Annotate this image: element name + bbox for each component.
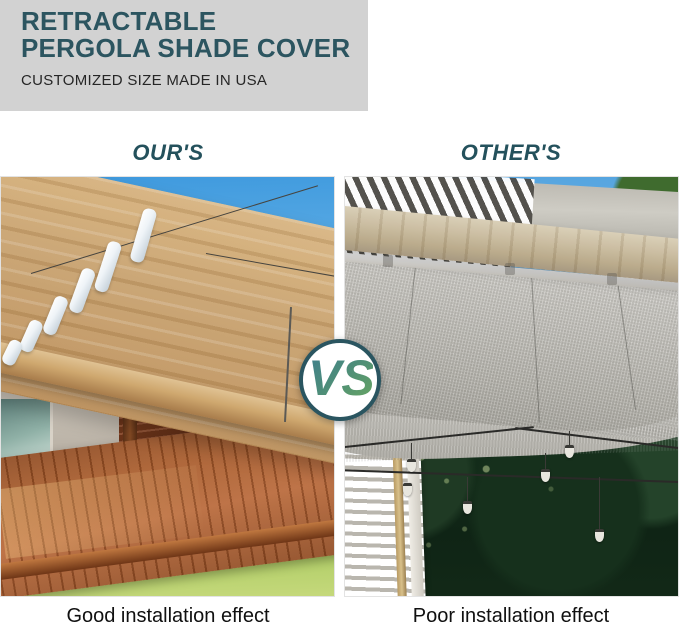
- string-light-bulb: [595, 529, 604, 542]
- vs-letter-v: VS: [308, 351, 373, 406]
- banner-title: RETRACTABLE PERGOLA SHADE COVER: [21, 8, 361, 62]
- vs-badge: VS: [299, 339, 381, 421]
- string-light-bulb: [541, 469, 550, 482]
- photo-ours: [0, 176, 335, 597]
- bulb-hanger: [467, 477, 468, 503]
- vs-icon: VS: [307, 351, 373, 409]
- photo-others: [344, 176, 679, 597]
- string-light-bulb: [403, 483, 412, 496]
- string-light-bulb: [407, 459, 416, 472]
- column-heading-others: OTHER'S: [343, 140, 679, 166]
- banner-subtitle: CUSTOMIZED SIZE MADE IN USA: [21, 72, 267, 89]
- string-light-bulb: [463, 501, 472, 514]
- header-banner: RETRACTABLE PERGOLA SHADE COVER CUSTOMIZ…: [0, 0, 368, 111]
- banner-title-line2: PERGOLA SHADE COVER: [21, 35, 361, 62]
- mesh-clip: [383, 255, 393, 267]
- banner-title-line1: RETRACTABLE: [21, 8, 361, 35]
- product-comparison-image: RETRACTABLE PERGOLA SHADE COVER CUSTOMIZ…: [0, 0, 679, 635]
- mesh-clip: [607, 273, 617, 285]
- bulb-hanger: [599, 477, 600, 531]
- string-light-bulb: [565, 445, 574, 458]
- caption-ours: Good installation effect: [0, 605, 336, 628]
- mesh-clip: [505, 263, 515, 275]
- caption-others: Poor installation effect: [343, 605, 679, 628]
- column-heading-ours: OUR'S: [0, 140, 336, 166]
